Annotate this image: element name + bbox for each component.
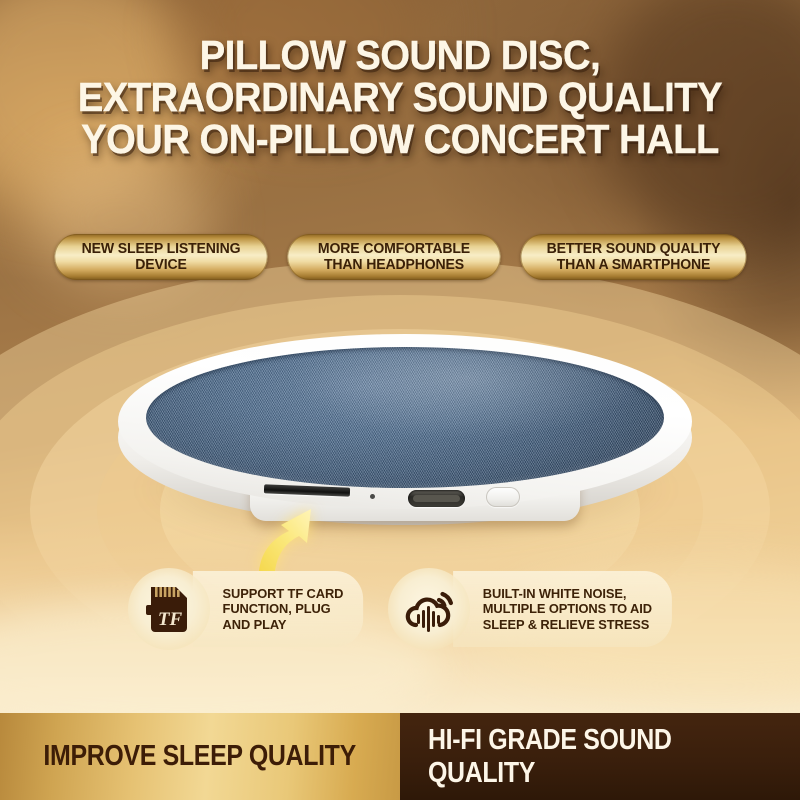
feature-pill-more-comfortable-than-headphones[interactable]: MORE COMFORTABLE THAN HEADPHONES [287,234,500,280]
pill-1-line-1: NEW SLEEP LISTENING [81,241,240,258]
callout-1-line-1: SUPPORT TF CARD [222,586,343,602]
callout-white-noise-text: BUILT-IN WHITE NOISE, MULTIPLE OPTIONS T… [453,571,672,647]
product-denim-fabric-top [146,347,664,488]
bottom-banner: IMPROVE SLEEP QUALITY HI-FI GRADE SOUND … [0,713,800,800]
callout-2-line-2: MULTIPLE OPTIONS TO AID [482,601,651,617]
advertisement-poster: PILLOW SOUND DISC, EXTRAORDINARY SOUND Q… [0,0,800,800]
feature-callout-row: TF SUPPORT TF CARD FUNCTION, PLUG AND PL… [0,568,800,688]
microphone-pinhole [370,494,375,499]
headline-line-1: PILLOW SOUND DISC, [28,34,772,76]
banner-improve-sleep-quality: IMPROVE SLEEP QUALITY [0,713,400,800]
callout-2-line-3: SLEEP & RELIEVE STRESS [482,617,651,633]
usb-c-port [408,490,465,507]
tf-slot-pointer-arrow-icon [255,503,335,573]
callout-2-line-1: BUILT-IN WHITE NOISE, [482,586,651,602]
product-image-pillow-sound-disc [118,334,692,544]
pill-3-line-1: BETTER SOUND QUALITY [546,241,720,258]
pill-2-line-2: THAN HEADPHONES [317,257,469,274]
banner-right-text: HI-FI GRADE SOUND QUALITY [428,724,772,790]
feature-pill-better-sound-quality-than-smartphone[interactable]: BETTER SOUND QUALITY THAN A SMARTPHONE [520,234,746,280]
callout-tf-card[interactable]: TF SUPPORT TF CARD FUNCTION, PLUG AND PL… [128,568,364,650]
callout-1-line-2: FUNCTION, PLUG [222,601,343,617]
headline: PILLOW SOUND DISC, EXTRAORDINARY SOUND Q… [28,34,772,160]
pill-2-line-1: MORE COMFORTABLE [317,241,469,258]
callout-tf-card-text: SUPPORT TF CARD FUNCTION, PLUG AND PLAY [192,571,362,647]
pill-3-line-2: THAN A SMARTPHONE [546,257,720,274]
feature-pill-row: NEW SLEEP LISTENING DEVICE MORE COMFORTA… [0,234,800,280]
white-noise-cloud-icon [403,584,455,634]
callout-tf-card-glow: TF [128,568,210,650]
callout-1-line-3: AND PLAY [222,617,343,633]
tf-card-icon-label: TF [157,609,182,630]
pill-1-line-2: DEVICE [81,257,240,274]
callout-white-noise[interactable]: BUILT-IN WHITE NOISE, MULTIPLE OPTIONS T… [388,568,673,650]
headline-line-2: EXTRAORDINARY SOUND QUALITY [28,76,772,118]
tf-card-icon: TF [146,583,192,635]
power-button [486,487,520,507]
headline-line-3: YOUR ON-PILLOW CONCERT HALL [28,118,772,160]
feature-pill-new-sleep-listening-device[interactable]: NEW SLEEP LISTENING DEVICE [54,234,267,280]
banner-left-text: IMPROVE SLEEP QUALITY [44,740,356,773]
banner-hifi-grade-sound-quality: HI-FI GRADE SOUND QUALITY [400,713,800,800]
callout-white-noise-glow [388,568,470,650]
